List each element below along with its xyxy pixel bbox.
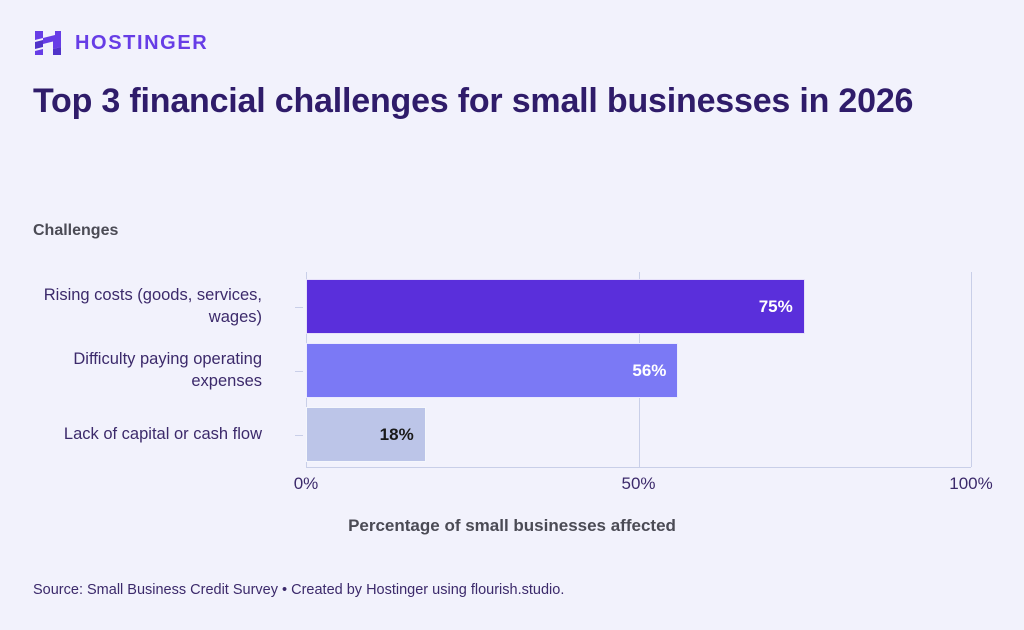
x-axis-tick-label: 50% <box>621 474 655 494</box>
brand-logo: HOSTINGER <box>33 28 208 58</box>
bar-row: Difficulty paying operating expenses56% <box>0 342 1024 399</box>
category-label: Lack of capital or cash flow <box>0 424 262 446</box>
bar-value-label: 18% <box>380 425 425 445</box>
y-axis-tick <box>295 435 303 436</box>
y-axis-tick <box>295 371 303 372</box>
bar[interactable]: 56% <box>306 343 678 398</box>
category-label: Difficulty paying operating expenses <box>0 349 262 393</box>
chart-title: Top 3 financial challenges for small bus… <box>33 80 963 124</box>
bar-rows: Rising costs (goods, services, wages)75%… <box>0 268 1024 473</box>
x-axis-tick-label: 0% <box>294 474 319 494</box>
x-axis-tick-label: 100% <box>949 474 992 494</box>
chart-page: HOSTINGER Top 3 financial challenges for… <box>0 0 1024 630</box>
hostinger-h-logo-icon <box>33 28 63 58</box>
category-label: Rising costs (goods, services, wages) <box>0 285 262 329</box>
bar[interactable]: 18% <box>306 407 426 462</box>
y-axis-title: Challenges <box>33 222 118 240</box>
bar-row: Rising costs (goods, services, wages)75% <box>0 278 1024 335</box>
source-caption: Source: Small Business Credit Survey • C… <box>33 582 564 598</box>
plot-area: Rising costs (goods, services, wages)75%… <box>0 268 1024 473</box>
y-axis-tick <box>295 307 303 308</box>
bar-row: Lack of capital or cash flow18% <box>0 406 1024 463</box>
bar-value-label: 56% <box>632 361 677 381</box>
brand-name: HOSTINGER <box>75 33 208 53</box>
x-axis-title: Percentage of small businesses affected <box>0 516 1024 536</box>
bar-value-label: 75% <box>759 297 804 317</box>
bar[interactable]: 75% <box>306 279 805 334</box>
x-axis-ticks: 0%50%100% <box>0 474 1024 500</box>
